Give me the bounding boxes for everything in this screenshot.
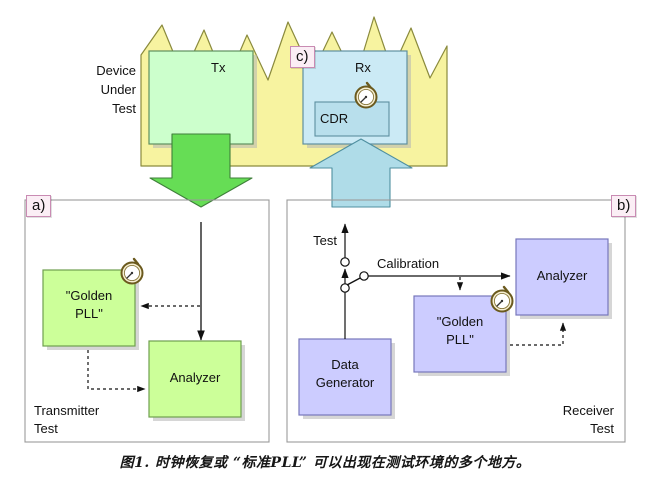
- rx-label: Rx: [355, 60, 371, 75]
- panel-a-dashed-pll-to-analyzer: [88, 350, 145, 389]
- tx-label: Tx: [211, 60, 225, 75]
- switch-test-terminal: [341, 258, 349, 266]
- dut-label-line1: Device: [62, 63, 136, 78]
- panel-b-dashed-pll-to-analyzer: [510, 323, 563, 345]
- panel-a-golden-pll-label-line1: "Golden: [43, 288, 135, 303]
- cdr-label: CDR: [320, 111, 348, 126]
- stopwatch-icon-panel-b: [492, 287, 513, 312]
- badge-b[interactable]: b): [611, 195, 636, 217]
- dut-label-line2: Under: [62, 82, 136, 97]
- panel-b-title-line2: Test: [496, 421, 614, 436]
- panel-b-data-generator-label-line2: Generator: [295, 375, 395, 390]
- panel-a-analyzer-label: Analyzer: [149, 370, 241, 385]
- figure-caption: 图1. 时钟恢复或 “标准PLL” 可以出现在测试环境的多个地方。: [0, 452, 650, 472]
- figure-root: Device Under Test Tx Rx CDR c) a) b) "Go…: [0, 0, 650, 488]
- badge-a[interactable]: a): [26, 195, 51, 217]
- panel-b-golden-pll-label-line1: "Golden: [414, 314, 506, 329]
- panel-b-calibration-label: Calibration: [377, 256, 439, 271]
- stopwatch-icon-panel-a: [122, 259, 143, 284]
- switch-calibration-terminal: [360, 272, 368, 280]
- panel-b-data-generator-label-line1: Data: [299, 357, 391, 372]
- panel-b-golden-pll-label-line2: PLL": [414, 332, 506, 347]
- badge-c[interactable]: c): [290, 46, 315, 68]
- panel-b-analyzer-label: Analyzer: [516, 268, 608, 283]
- panel-a-golden-pll-label-line2: PLL": [43, 306, 135, 321]
- panel-b-test-label: Test: [295, 233, 337, 248]
- dut-label-line3: Test: [62, 101, 136, 116]
- panel-a-title-line1: Transmitter: [34, 403, 99, 418]
- panel-b-title-line1: Receiver: [496, 403, 614, 418]
- panel-a-title-line2: Test: [34, 421, 58, 436]
